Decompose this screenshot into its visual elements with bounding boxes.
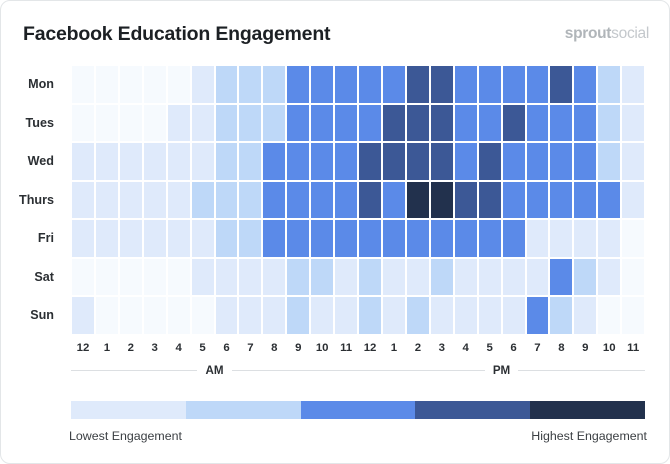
heatmap-cell[interactable] [310,65,334,104]
heatmap-cell[interactable] [71,296,95,335]
heatmap-cell[interactable] [119,181,143,220]
heatmap-cell[interactable] [262,65,286,104]
heatmap-cell[interactable] [286,258,310,297]
chart-card: Facebook Education Engagement sproutsoci… [0,0,670,464]
legend-labels: Lowest Engagement Highest Engagement [69,429,647,447]
heatmap-row [71,142,645,181]
heatmap-cell[interactable] [358,219,382,258]
hour-label: 8 [262,339,286,357]
heatmap-cell[interactable] [95,65,119,104]
heatmap-cell[interactable] [502,181,526,220]
heatmap-cell[interactable] [167,181,191,220]
pm-rule-right [518,370,645,371]
heatmap-cell[interactable] [119,219,143,258]
heatmap-cell[interactable] [573,142,597,181]
day-label-fri: Fri [1,219,63,258]
heatmap-cell[interactable] [430,219,454,258]
heatmap-cell[interactable] [382,181,406,220]
heatmap-cell[interactable] [167,104,191,143]
heatmap-cell[interactable] [215,219,239,258]
heatmap-cell[interactable] [191,181,215,220]
heatmap-cell[interactable] [191,142,215,181]
heatmap-cell[interactable] [143,296,167,335]
heatmap-cell[interactable] [406,142,430,181]
heatmap-cell[interactable] [334,181,358,220]
heatmap-cell[interactable] [215,142,239,181]
heatmap-cell[interactable] [406,258,430,297]
hour-label: 6 [215,339,239,357]
heatmap-cell[interactable] [215,296,239,335]
heatmap-cell[interactable] [597,181,621,220]
hour-label: 12 [71,339,95,357]
heatmap-cell[interactable] [597,104,621,143]
day-label-thurs: Thurs [1,181,63,220]
heatmap-cell[interactable] [238,65,262,104]
hour-label: 3 [430,339,454,357]
legend-swatch [530,401,645,419]
heatmap-cell[interactable] [358,296,382,335]
heatmap-cell[interactable] [167,219,191,258]
heatmap-cell[interactable] [502,296,526,335]
heatmap-cell[interactable] [358,65,382,104]
heatmap-cell[interactable] [310,104,334,143]
heatmap-cell[interactable] [526,219,550,258]
heatmap-cell[interactable] [549,104,573,143]
heatmap-cell[interactable] [262,104,286,143]
heatmap-cell[interactable] [167,142,191,181]
heatmap-cell[interactable] [95,219,119,258]
hour-label: 9 [573,339,597,357]
heatmap-cell[interactable] [549,142,573,181]
chart-header: Facebook Education Engagement sproutsoci… [23,17,649,51]
legend-swatch [186,401,301,419]
heatmap-cell[interactable] [310,258,334,297]
heatmap-cell[interactable] [71,65,95,104]
heatmap-cell[interactable] [621,296,645,335]
day-axis: MonTuesWedThursFriSatSun [1,65,63,335]
heatmap-cell[interactable] [167,296,191,335]
legend-low-label: Lowest Engagement [69,429,182,443]
heatmap-cell[interactable] [430,296,454,335]
heatmap-cell[interactable] [286,104,310,143]
heatmap-cell[interactable] [502,65,526,104]
hour-label: 11 [621,339,645,357]
heatmap-cell[interactable] [526,296,550,335]
heatmap-cell[interactable] [334,258,358,297]
heatmap-cell[interactable] [143,142,167,181]
pm-label: PM [493,364,510,377]
heatmap-cell[interactable] [430,181,454,220]
heatmap-cell[interactable] [191,104,215,143]
hour-label: 1 [95,339,119,357]
heatmap-cell[interactable] [478,65,502,104]
heatmap-row [71,219,645,258]
heatmap-cell[interactable] [454,181,478,220]
sprout-social-logo: sproutsocial [565,17,649,51]
heatmap-cell[interactable] [334,219,358,258]
heatmap-cell[interactable] [334,104,358,143]
heatmap-cell[interactable] [502,258,526,297]
heatmap-cell[interactable] [382,296,406,335]
heatmap-cell[interactable] [119,104,143,143]
hour-label: 4 [454,339,478,357]
heatmap-cell[interactable] [143,65,167,104]
heatmap-cell[interactable] [167,65,191,104]
heatmap-cell[interactable] [238,258,262,297]
heatmap-cell[interactable] [310,219,334,258]
hour-label: 7 [238,339,262,357]
hour-label: 1 [382,339,406,357]
heatmap-cell[interactable] [621,219,645,258]
hour-label: 9 [286,339,310,357]
heatmap-cell[interactable] [71,142,95,181]
hour-label: 11 [334,339,358,357]
heatmap-cell[interactable] [382,65,406,104]
heatmap-cell[interactable] [526,65,550,104]
heatmap-grid [71,65,645,335]
heatmap-cell[interactable] [549,296,573,335]
heatmap-cell[interactable] [382,142,406,181]
heatmap-cell[interactable] [262,258,286,297]
heatmap-cell[interactable] [406,181,430,220]
heatmap-cell[interactable] [95,296,119,335]
heatmap-cell[interactable] [143,219,167,258]
day-label-sat: Sat [1,258,63,297]
heatmap-cell[interactable] [215,104,239,143]
heatmap-cell[interactable] [597,219,621,258]
page-title: Facebook Education Engagement [23,17,649,51]
heatmap-cell[interactable] [262,142,286,181]
heatmap-cell[interactable] [310,181,334,220]
heatmap-cell[interactable] [358,104,382,143]
heatmap-cell[interactable] [549,65,573,104]
heatmap-cell[interactable] [71,219,95,258]
heatmap-cell[interactable] [597,296,621,335]
heatmap-cell[interactable] [478,219,502,258]
hour-label: 8 [549,339,573,357]
heatmap-cell[interactable] [549,219,573,258]
heatmap-cell[interactable] [454,258,478,297]
am-rule-left [71,370,197,371]
day-label-sun: Sun [1,296,63,335]
hour-label: 5 [191,339,215,357]
hour-axis: 121234567891011121234567891011 [71,339,645,357]
heatmap-cell[interactable] [286,219,310,258]
heatmap-cell[interactable] [119,65,143,104]
legend-gradient [71,401,645,419]
heatmap-cell[interactable] [621,65,645,104]
heatmap-cell[interactable] [597,142,621,181]
heatmap-cell[interactable] [573,258,597,297]
am-label: AM [205,364,223,377]
heatmap-cell[interactable] [573,65,597,104]
heatmap-cell[interactable] [191,65,215,104]
heatmap-cell[interactable] [454,65,478,104]
heatmap-cell[interactable] [191,258,215,297]
heatmap-cell[interactable] [334,65,358,104]
heatmap-cell[interactable] [262,181,286,220]
heatmap-cell[interactable] [119,258,143,297]
brand-name-light: social [611,25,649,42]
heatmap-cell[interactable] [95,181,119,220]
heatmap-cell[interactable] [502,142,526,181]
am-group: AM [71,361,358,379]
heatmap-cell[interactable] [167,258,191,297]
heatmap-cell[interactable] [262,219,286,258]
heatmap-cell[interactable] [454,296,478,335]
heatmap-cell[interactable] [526,258,550,297]
heatmap-cell[interactable] [454,142,478,181]
heatmap-cell[interactable] [71,258,95,297]
heatmap-cell[interactable] [454,104,478,143]
pm-rule-left [358,370,485,371]
heatmap-cell[interactable] [286,65,310,104]
heatmap-cell[interactable] [382,219,406,258]
ampm-axis: AM PM [71,361,645,379]
heatmap-cell[interactable] [573,104,597,143]
heatmap-cell[interactable] [406,65,430,104]
heatmap-cell[interactable] [358,142,382,181]
heatmap-cell[interactable] [95,258,119,297]
day-label-tues: Tues [1,104,63,143]
hour-label: 2 [406,339,430,357]
heatmap-cell[interactable] [597,65,621,104]
heatmap-cell[interactable] [573,181,597,220]
legend-high-label: Highest Engagement [531,429,647,443]
heatmap-cell[interactable] [502,104,526,143]
heatmap-cell[interactable] [238,142,262,181]
heatmap-cell[interactable] [119,142,143,181]
heatmap-cell[interactable] [430,65,454,104]
heatmap-cell[interactable] [310,296,334,335]
heatmap-cell[interactable] [478,104,502,143]
heatmap-cell[interactable] [71,181,95,220]
heatmap-cell[interactable] [597,258,621,297]
heatmap-cell[interactable] [430,142,454,181]
hour-label: 10 [310,339,334,357]
heatmap-cell[interactable] [95,104,119,143]
hour-label: 10 [597,339,621,357]
hour-label: 5 [478,339,502,357]
heatmap-cell[interactable] [478,296,502,335]
heatmap-row [71,258,645,297]
heatmap-cell[interactable] [238,219,262,258]
heatmap-cell[interactable] [478,181,502,220]
heatmap-cell[interactable] [95,142,119,181]
heatmap-cell[interactable] [430,104,454,143]
heatmap-cell[interactable] [215,65,239,104]
pm-group: PM [358,361,645,379]
heatmap-cell[interactable] [71,104,95,143]
heatmap-cell[interactable] [406,104,430,143]
heatmap-cell[interactable] [215,258,239,297]
heatmap-cell[interactable] [143,181,167,220]
heatmap-cell[interactable] [334,142,358,181]
legend-swatch [71,401,186,419]
heatmap-cell[interactable] [143,104,167,143]
heatmap-cell[interactable] [238,181,262,220]
heatmap-cell[interactable] [310,142,334,181]
heatmap-cell[interactable] [191,219,215,258]
heatmap-cell[interactable] [621,181,645,220]
hour-label: 12 [358,339,382,357]
heatmap-row [71,65,645,104]
heatmap-cell[interactable] [238,296,262,335]
legend-swatch [301,401,416,419]
heatmap-cell[interactable] [430,258,454,297]
heatmap-row [71,296,645,335]
heatmap-cell[interactable] [286,142,310,181]
heatmap-cell[interactable] [573,219,597,258]
heatmap-cell[interactable] [382,258,406,297]
heatmap-cell[interactable] [621,142,645,181]
heatmap-cell[interactable] [478,142,502,181]
heatmap-cell[interactable] [215,181,239,220]
heatmap-cell[interactable] [502,219,526,258]
day-label-wed: Wed [1,142,63,181]
heatmap-cell[interactable] [358,181,382,220]
hour-label: 4 [167,339,191,357]
legend-swatch [415,401,530,419]
heatmap-cell[interactable] [358,258,382,297]
heatmap-cell[interactable] [119,296,143,335]
heatmap-cell[interactable] [262,296,286,335]
hour-label: 3 [143,339,167,357]
heatmap-cell[interactable] [526,142,550,181]
heatmap-cell[interactable] [238,104,262,143]
heatmap-cell[interactable] [334,296,358,335]
heatmap-cell[interactable] [191,296,215,335]
hour-label: 6 [502,339,526,357]
heatmap-cell[interactable] [621,104,645,143]
heatmap-row [71,104,645,143]
am-rule-right [232,370,358,371]
heatmap-cell[interactable] [286,181,310,220]
heatmap-cell[interactable] [621,258,645,297]
heatmap-cell[interactable] [286,296,310,335]
heatmap-cell[interactable] [382,104,406,143]
heatmap-cell[interactable] [406,219,430,258]
heatmap-cell[interactable] [526,181,550,220]
heatmap-cell[interactable] [143,258,167,297]
heatmap-cell[interactable] [573,296,597,335]
heatmap-cell[interactable] [454,219,478,258]
day-label-mon: Mon [1,65,63,104]
heatmap-cell[interactable] [406,296,430,335]
heatmap-cell[interactable] [526,104,550,143]
brand-name-bold: sprout [565,25,611,42]
heatmap-cell[interactable] [549,258,573,297]
heatmap-row [71,181,645,220]
heatmap-cell[interactable] [478,258,502,297]
heatmap-cell[interactable] [549,181,573,220]
hour-label: 2 [119,339,143,357]
hour-label: 7 [526,339,550,357]
